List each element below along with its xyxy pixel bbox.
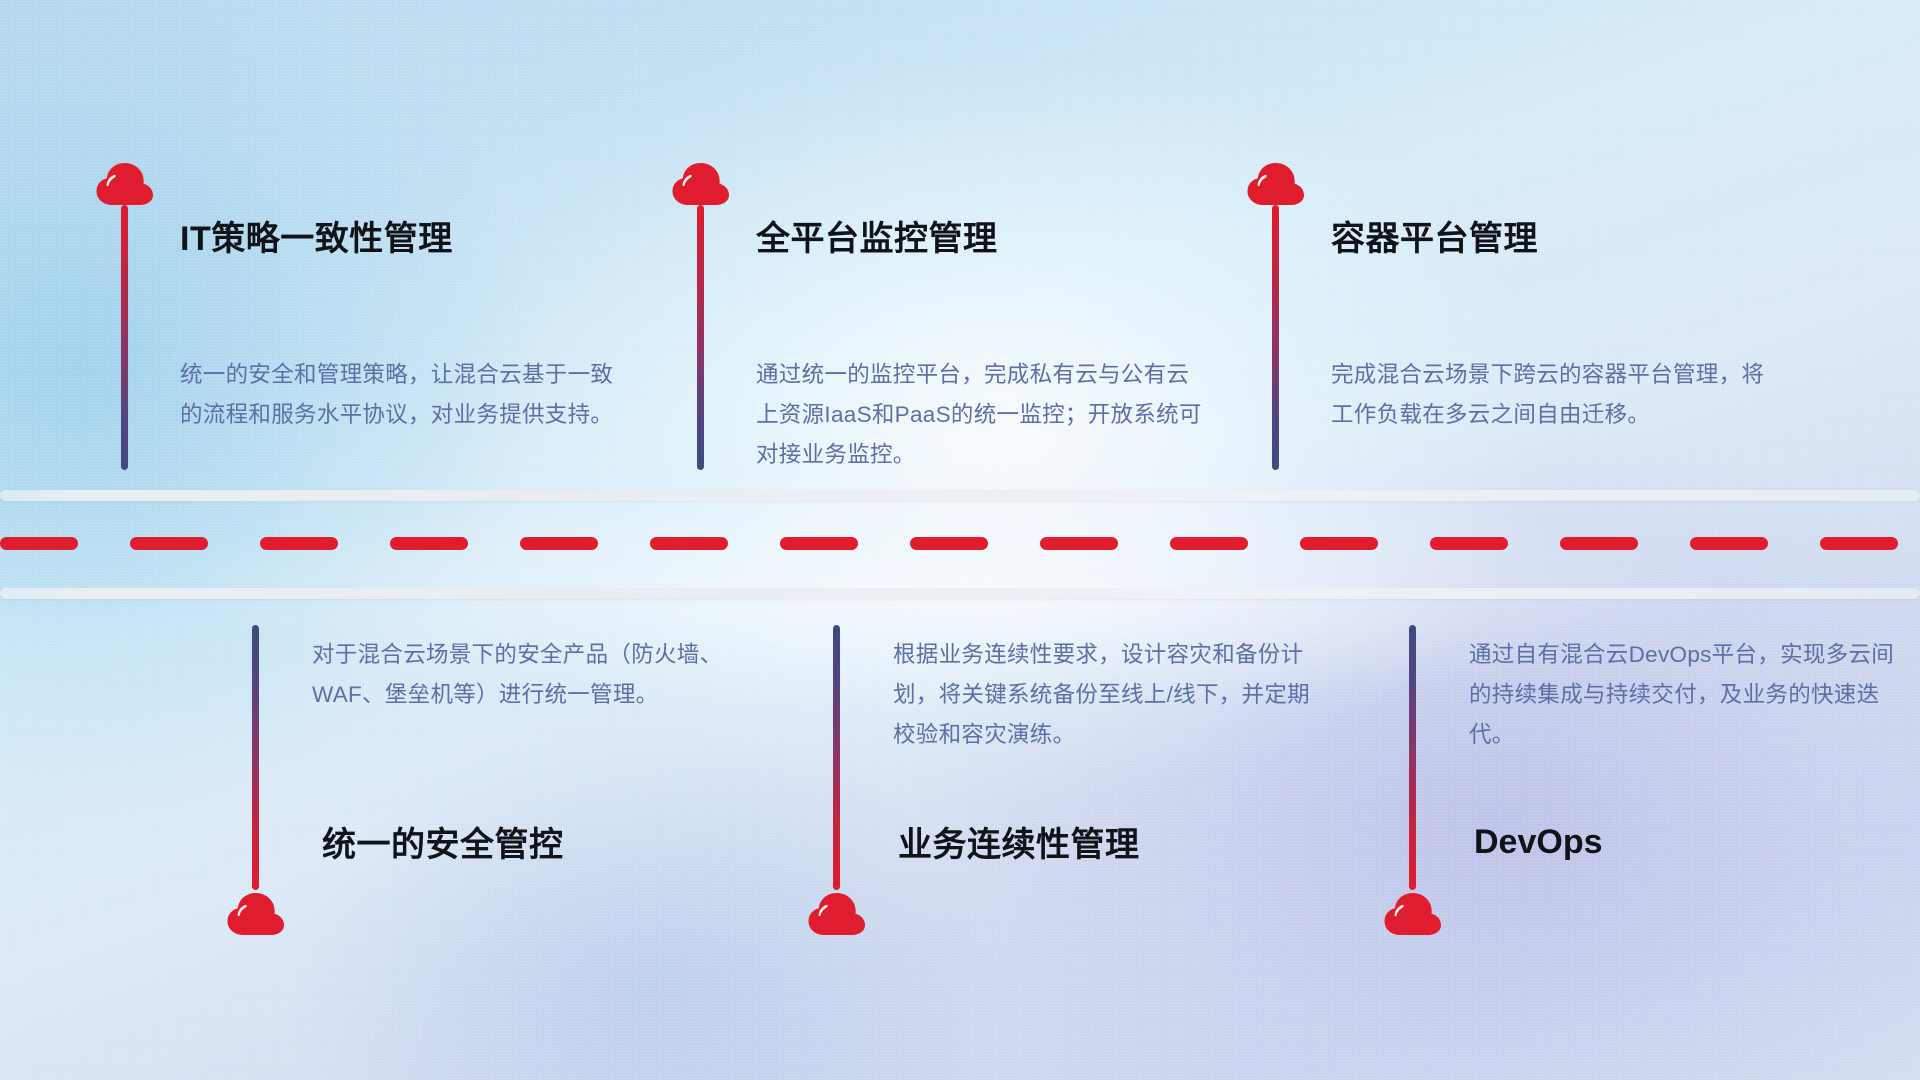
- timeline-stem: [1409, 625, 1416, 890]
- item-heading: 统一的安全管控: [322, 828, 564, 862]
- item-body-text: 根据业务连续性要求，设计容灾和备份计划，将关键系统备份至线上/线下，并定期校验和…: [893, 635, 1323, 755]
- cloud-icon: [670, 160, 732, 206]
- divider-dash: [520, 537, 598, 550]
- timeline-stem: [833, 625, 840, 890]
- item-body-text: 通过统一的监控平台，完成私有云与公有云上资源IaaS和PaaS的统一监控；开放系…: [756, 355, 1206, 475]
- item-body-text: 通过自有混合云DevOps平台，实现多云间的持续集成与持续交付，及业务的快速迭代…: [1469, 635, 1909, 755]
- timeline-stem: [1272, 205, 1279, 470]
- item-heading: 容器平台管理: [1331, 222, 1538, 256]
- item-body-text: 统一的安全和管理策略，让混合云基于一致的流程和服务水平协议，对业务提供支持。: [180, 355, 620, 435]
- item-body-text: 完成混合云场景下跨云的容器平台管理，将工作负载在多云之间自由迁移。: [1331, 355, 1781, 435]
- center-timeline-divider: [0, 490, 1920, 600]
- item-heading: IT策略一致性管理: [180, 222, 453, 256]
- divider-dash: [260, 537, 338, 550]
- infographic-canvas: IT策略一致性管理 统一的安全和管理策略，让混合云基于一致的流程和服务水平协议，…: [0, 0, 1920, 1080]
- divider-dash: [1820, 537, 1898, 550]
- cloud-icon: [1245, 160, 1307, 206]
- divider-dash: [910, 537, 988, 550]
- divider-dash: [780, 537, 858, 550]
- divider-rail-bottom: [0, 588, 1920, 599]
- divider-dash: [1560, 537, 1638, 550]
- cloud-icon: [1382, 890, 1444, 936]
- divider-dashed-line: [0, 537, 1920, 550]
- divider-dash: [130, 537, 208, 550]
- cloud-icon: [225, 890, 287, 936]
- timeline-stem: [252, 625, 259, 890]
- item-heading: 全平台监控管理: [756, 222, 998, 256]
- timeline-stem: [121, 205, 128, 470]
- cloud-icon: [94, 160, 156, 206]
- divider-dash: [1040, 537, 1118, 550]
- divider-dash: [390, 537, 468, 550]
- timeline-stem: [697, 205, 704, 470]
- item-heading: 业务连续性管理: [898, 828, 1140, 862]
- item-heading: DevOps: [1474, 825, 1603, 859]
- cloud-icon: [806, 890, 868, 936]
- divider-dash: [1690, 537, 1768, 550]
- item-body-text: 对于混合云场景下的安全产品（防火墙、WAF、堡垒机等）进行统一管理。: [312, 635, 742, 715]
- divider-dash: [1430, 537, 1508, 550]
- divider-dash: [0, 537, 78, 550]
- divider-dash: [650, 537, 728, 550]
- divider-dash: [1300, 537, 1378, 550]
- divider-dash: [1170, 537, 1248, 550]
- divider-rail-top: [0, 490, 1920, 501]
